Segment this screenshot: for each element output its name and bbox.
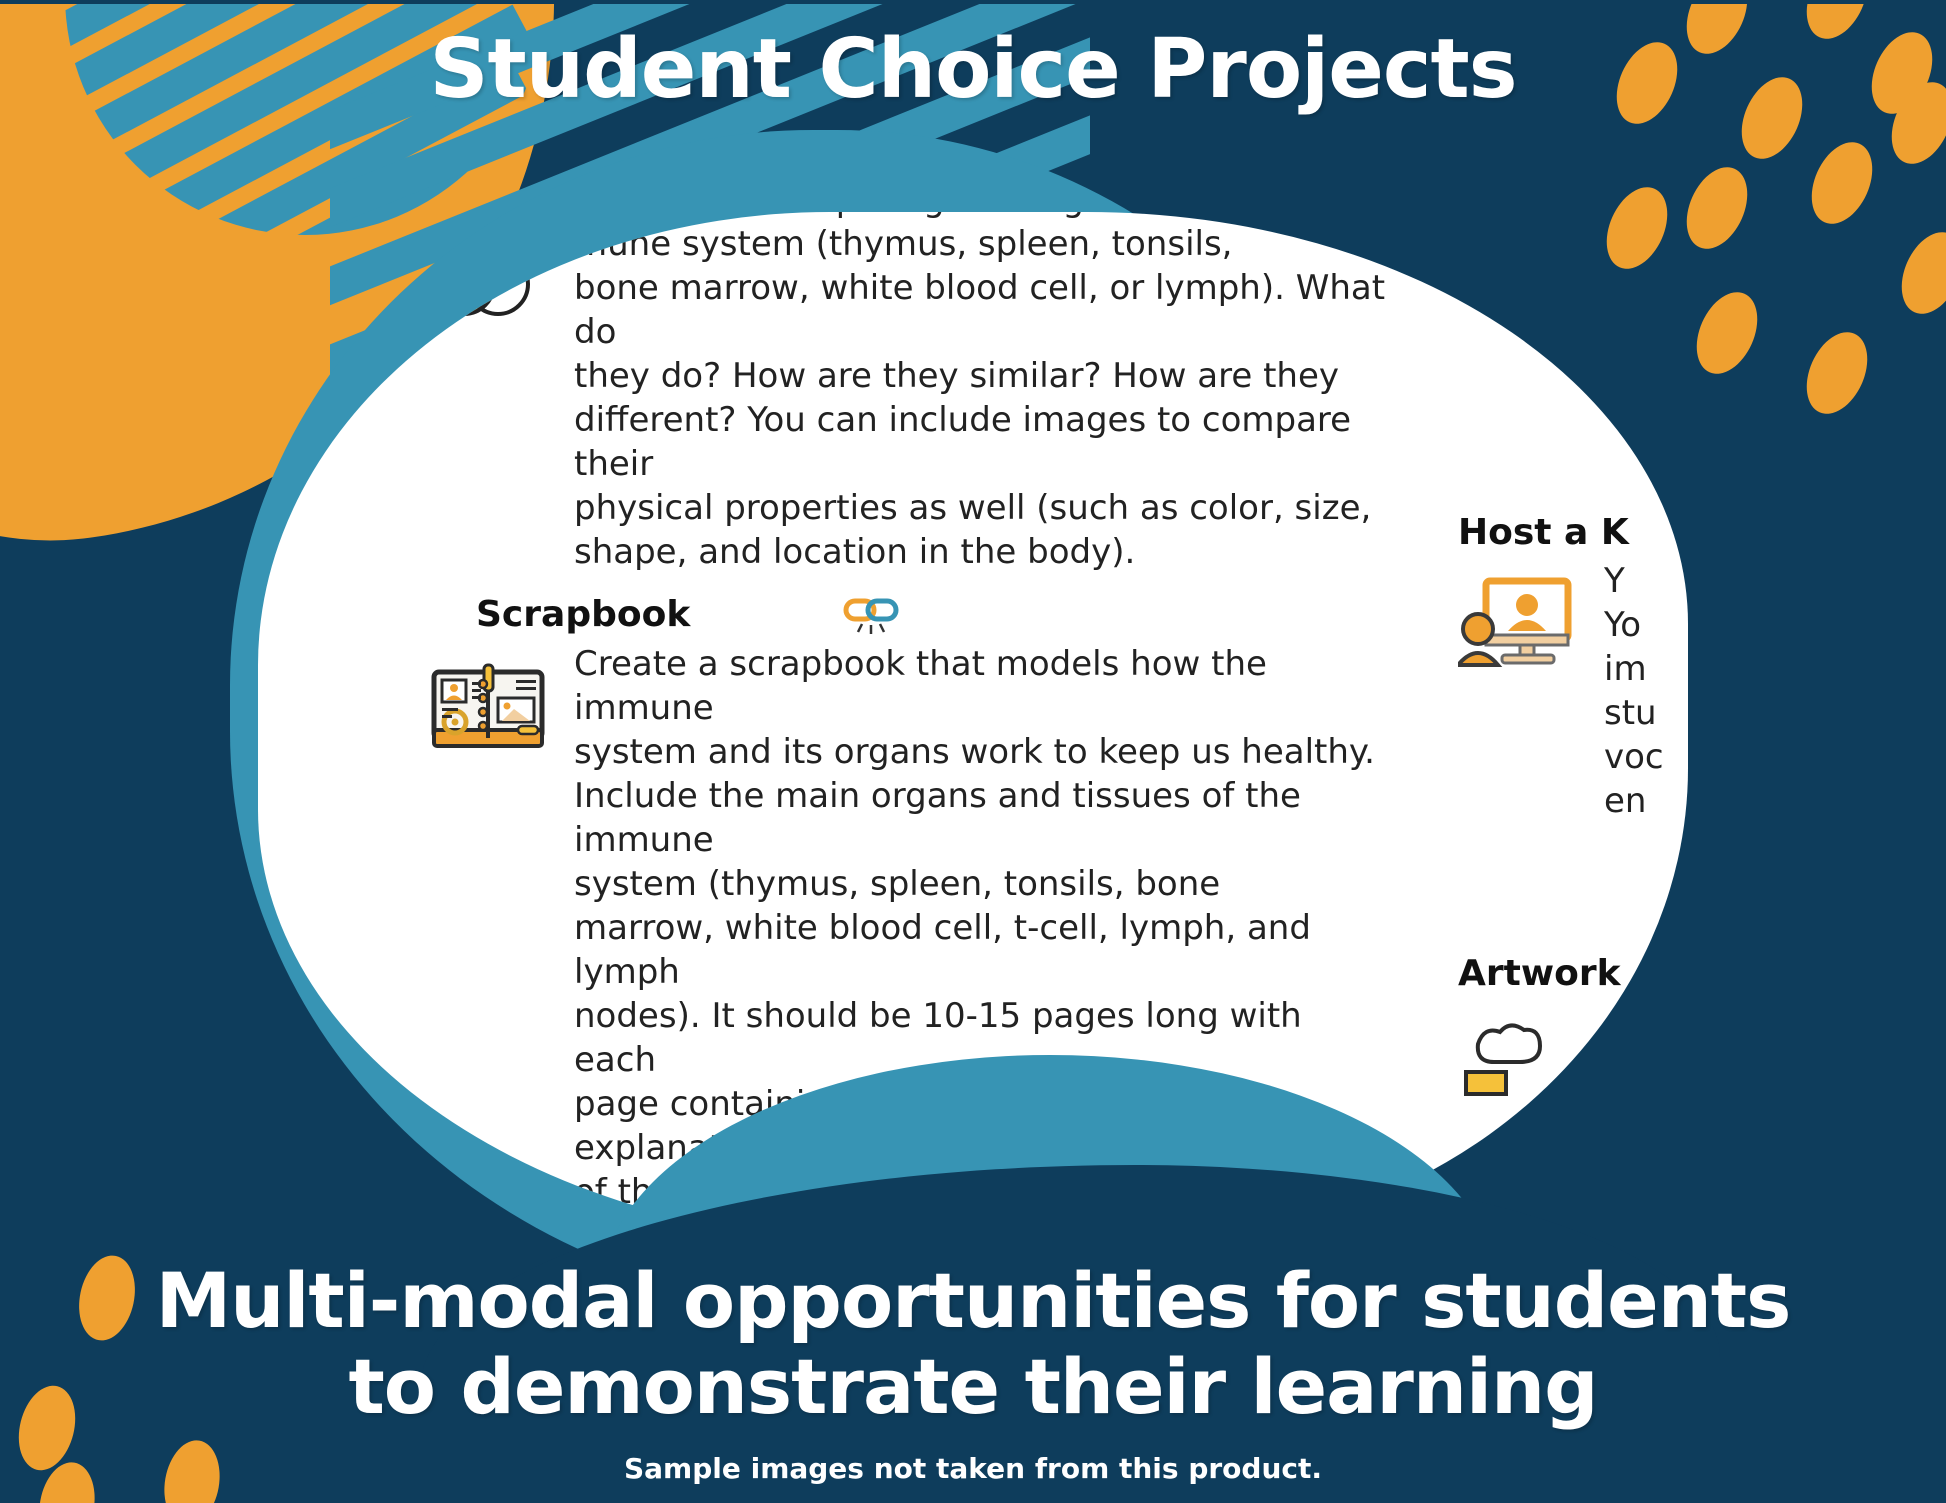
scrapbook-icon: [428, 642, 556, 763]
section-host-a-kahoot: Host a K: [1458, 512, 1688, 823]
subtitle-line-1: Multi-modal opportunities for students: [0, 1258, 1946, 1344]
intro-paragraph: n Diagram comparing two orga mune system…: [574, 212, 1388, 574]
top-divider-bar: [0, 0, 1946, 4]
section-venn-diagram: n Diagram comparing two orga mune system…: [428, 212, 1388, 574]
venn-diagram-icon: [428, 212, 556, 325]
poster-canvas: n Diagram comparing two orga mune system…: [0, 0, 1946, 1503]
webinar-icon: [1458, 559, 1586, 674]
host-a-k-body: Y Yo im stu voc en: [1604, 559, 1688, 823]
artwork-heading: Artwork: [1458, 953, 1621, 994]
section-artwork: Artwork A: [1458, 953, 1688, 1105]
artwork-body: A: [1604, 1000, 1688, 1044]
disclaimer-text: Sample images not taken from this produc…: [0, 1452, 1946, 1485]
page-title: Student Choice Projects: [0, 22, 1946, 117]
subtitle: Multi-modal opportunities for students t…: [0, 1258, 1946, 1430]
artwork-icon: [1458, 1000, 1586, 1105]
scrapbook-heading: Scrapbook: [476, 594, 690, 635]
subtitle-line-2: to demonstrate their learning: [0, 1344, 1946, 1430]
host-a-k-heading: Host a K: [1458, 512, 1629, 553]
chain-link-icon[interactable]: [842, 592, 900, 636]
